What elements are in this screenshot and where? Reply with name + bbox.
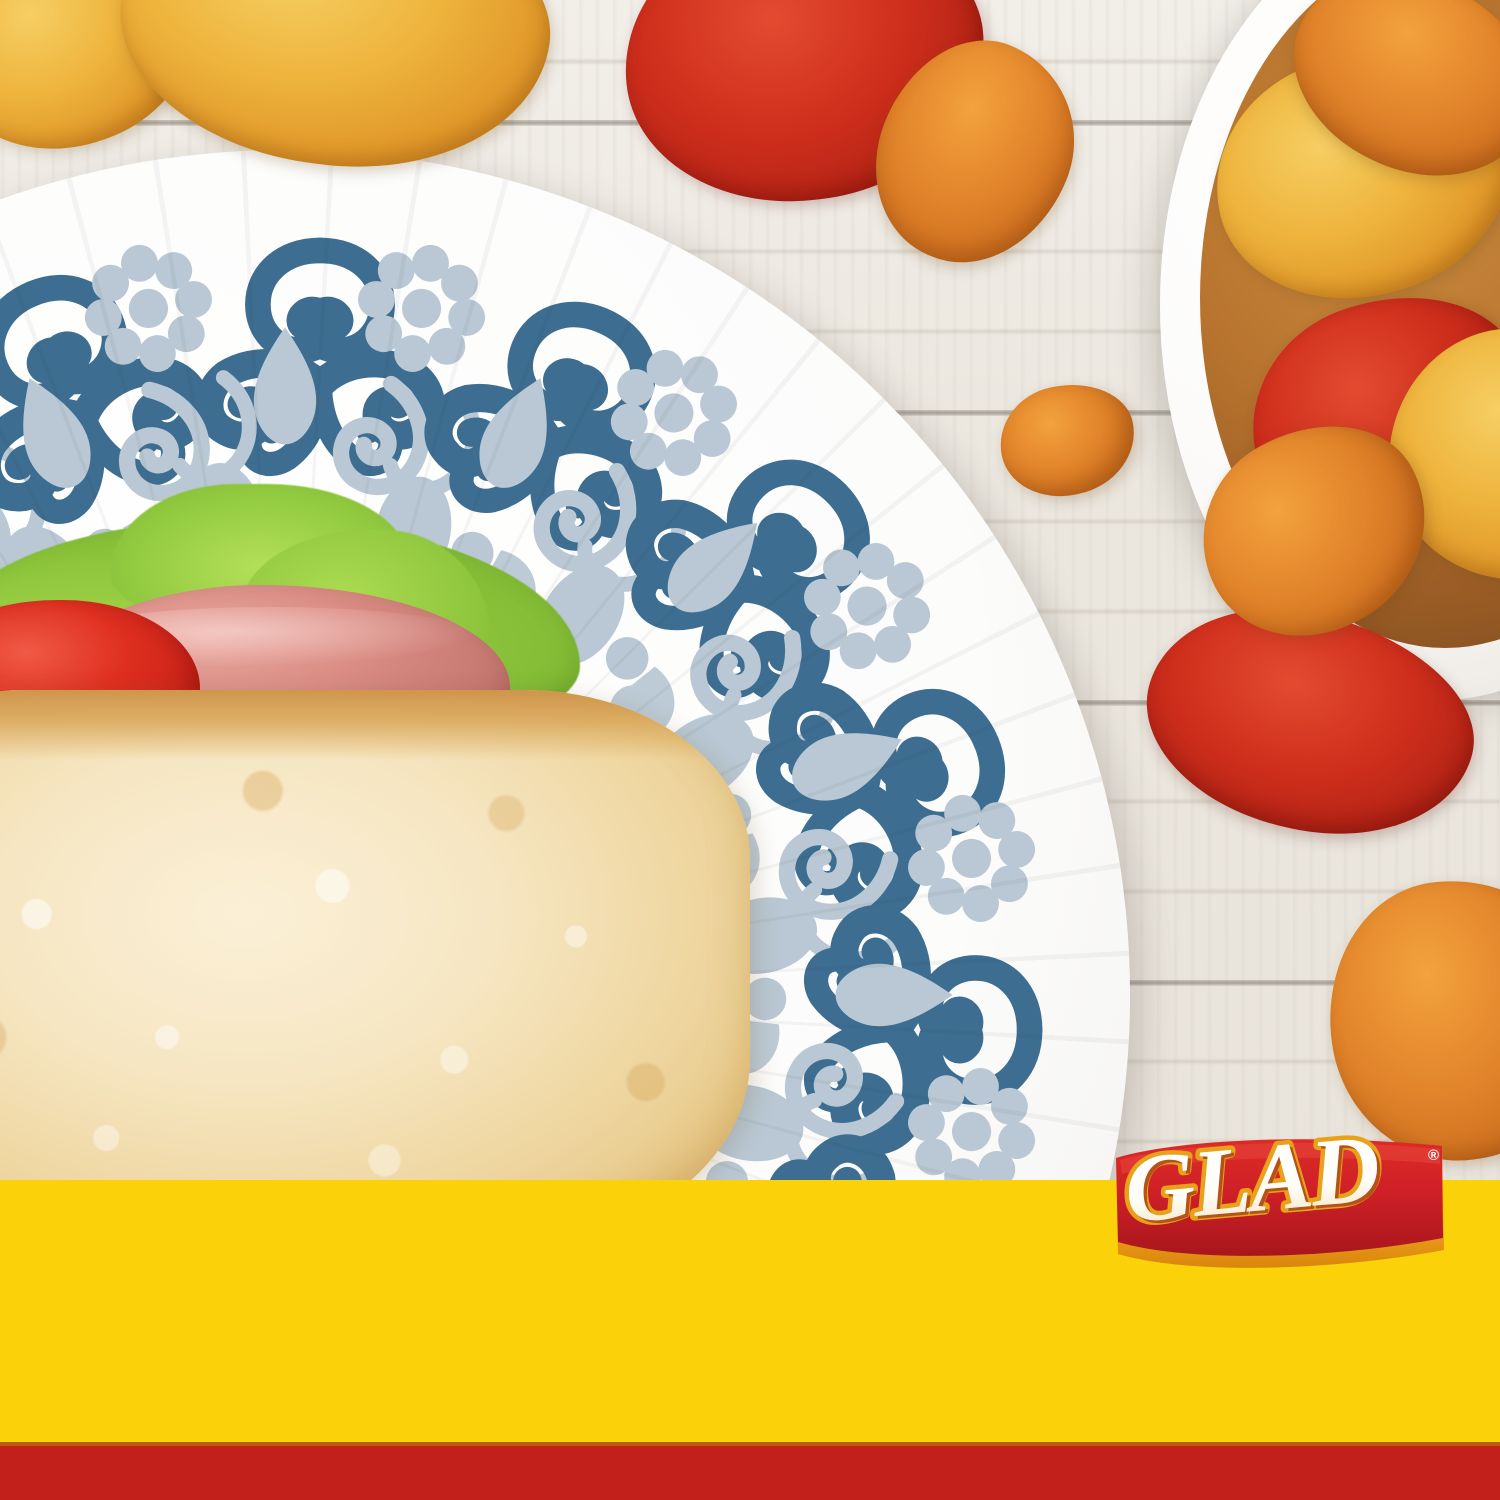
toasted-sandwich bbox=[0, 690, 750, 1190]
toast-crumb-texture bbox=[0, 690, 750, 1190]
glad-logo: GLAD GLAD GLAD ® bbox=[1112, 1138, 1448, 1278]
registered-mark-icon: ® bbox=[1428, 1147, 1439, 1164]
footer-bar bbox=[0, 1442, 1500, 1500]
glad-paper-plates-ad: Mealtime Made Easier No more getting stu… bbox=[0, 0, 1500, 1500]
footer-top-edge bbox=[0, 1442, 1500, 1446]
product-lifestyle-photo bbox=[0, 0, 1500, 1190]
toast-crust bbox=[0, 690, 750, 760]
logo-wordmark: GLAD bbox=[1121, 1114, 1383, 1243]
